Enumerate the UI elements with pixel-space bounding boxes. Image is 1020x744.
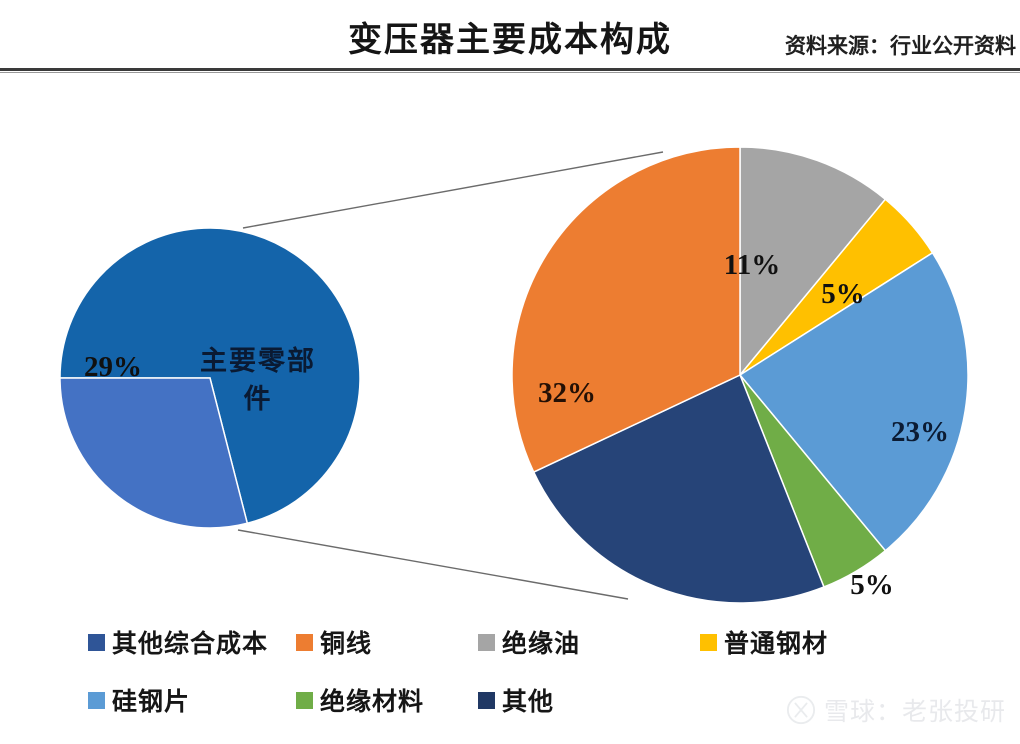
legend-label: 铜线: [320, 624, 372, 660]
connector-line: [238, 530, 628, 599]
legend-swatch: [88, 692, 105, 709]
pie-slice-label: 5%: [850, 569, 894, 601]
pie-slice-label: 5%: [821, 278, 865, 310]
legend-swatch: [478, 634, 495, 651]
chart-legend: 其他综合成本铜线绝缘油普通钢材硅钢片绝缘材料其他: [0, 620, 1020, 730]
legend-swatch: [296, 634, 313, 651]
pie-slice-label: 11%: [724, 249, 780, 281]
legend-swatch: [478, 692, 495, 709]
legend-label: 其他综合成本: [112, 624, 268, 660]
legend-item[interactable]: 硅钢片: [88, 682, 190, 718]
legend-item[interactable]: 绝缘油: [478, 624, 580, 660]
legend-label: 硅钢片: [112, 682, 190, 718]
legend-item[interactable]: 普通钢材: [700, 624, 828, 660]
legend-swatch: [700, 634, 717, 651]
pie-chart-svg: 11%5%23%5%24%32%主要零部件29%: [0, 78, 1020, 618]
legend-label: 绝缘材料: [320, 682, 424, 718]
legend-label: 其他: [502, 682, 554, 718]
pie-slice-label: 32%: [538, 377, 596, 409]
legend-label: 普通钢材: [724, 624, 828, 660]
legend-item[interactable]: 铜线: [296, 624, 372, 660]
header-divider: [0, 68, 1020, 71]
legend-swatch: [88, 634, 105, 651]
legend-swatch: [296, 692, 313, 709]
pie-chart-figure: 11%5%23%5%24%32%主要零部件29%: [0, 78, 1020, 618]
header-divider-secondary: [0, 72, 1020, 73]
pie-slice-label: 23%: [891, 416, 949, 448]
chart-header: 变压器主要成本构成 资料来源：行业公开资料: [0, 0, 1020, 72]
pie-slice-label: 29%: [84, 351, 142, 383]
legend-label: 绝缘油: [502, 624, 580, 660]
legend-item[interactable]: 其他综合成本: [88, 624, 268, 660]
legend-item[interactable]: 其他: [478, 682, 554, 718]
source-note: 资料来源：行业公开资料: [785, 30, 1016, 60]
legend-item[interactable]: 绝缘材料: [296, 682, 424, 718]
detail-pie[interactable]: [512, 147, 968, 603]
